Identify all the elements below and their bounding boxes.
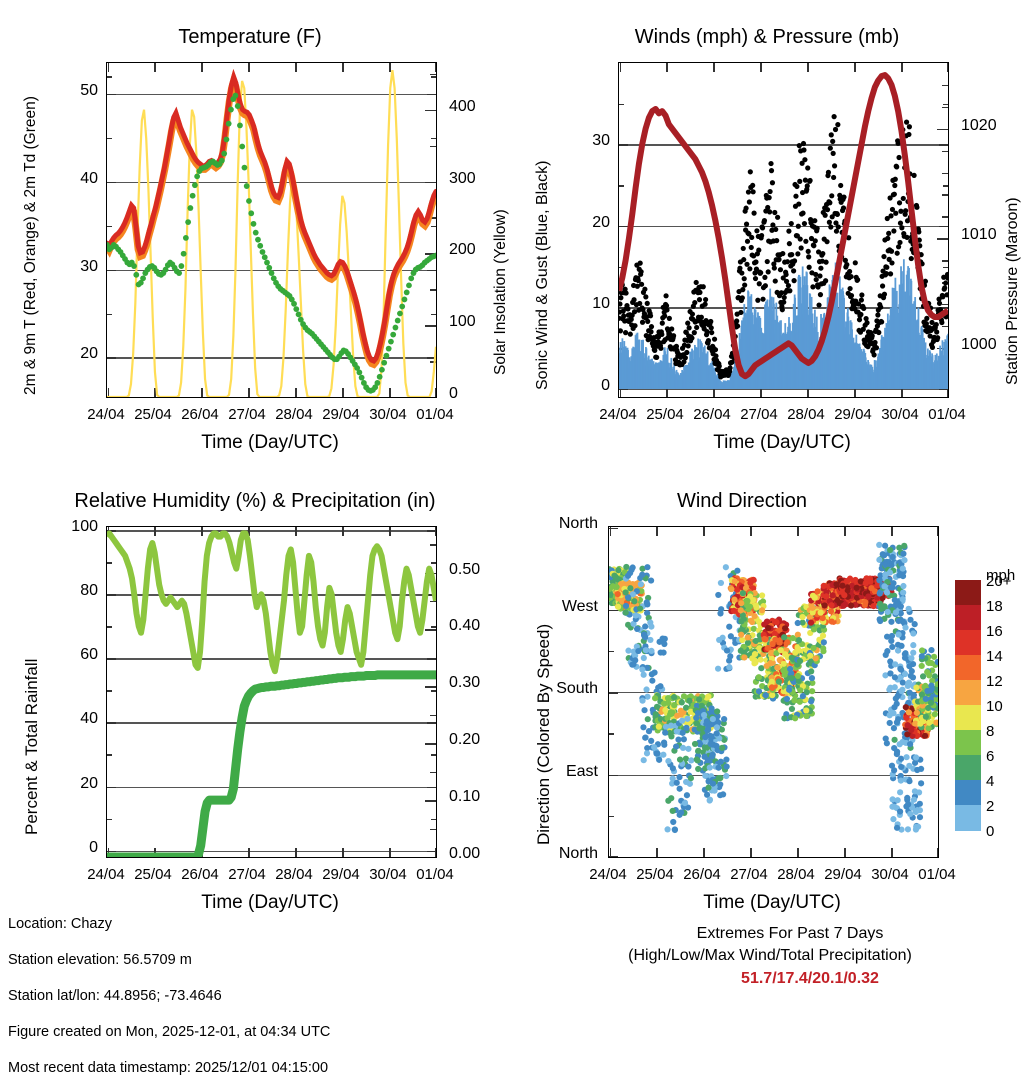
y-tick-label: 20 bbox=[50, 775, 98, 793]
colorbar-band bbox=[955, 705, 981, 731]
colorbar-band bbox=[955, 605, 981, 631]
yr-tick-label: 0.50 bbox=[449, 561, 480, 579]
y-tick-label: 100 bbox=[50, 518, 98, 536]
extremes-subheading: (High/Low/Max Wind/Total Precipitation) bbox=[560, 947, 980, 965]
humidity-ylabel-left: Percent & Total Rainfall bbox=[22, 659, 42, 835]
relative-humidity-line bbox=[107, 533, 436, 671]
y-tick-label: 10 bbox=[562, 295, 610, 313]
colorbar-band bbox=[955, 780, 981, 806]
colorbar-tick-label: 16 bbox=[986, 623, 1003, 640]
winds-pressure-series bbox=[619, 63, 948, 397]
colorbar-tick-label: 10 bbox=[986, 698, 1003, 715]
temperature-ylabel-left: 2m & 9m T (Red, Orange) & 2m Td (Green) bbox=[22, 96, 40, 395]
temperature-xlabel: Time (Day/UTC) bbox=[130, 432, 410, 454]
humidity-xlabel: Time (Day/UTC) bbox=[130, 892, 410, 914]
temperature-title: Temperature (F) bbox=[50, 26, 450, 49]
y-tick-label: South bbox=[532, 680, 598, 698]
temperature-series bbox=[107, 63, 436, 397]
y-tick-label: 40 bbox=[50, 710, 98, 728]
humidity-title: Relative Humidity (%) & Precipitation (i… bbox=[5, 490, 505, 513]
colorbar-tick-label: 6 bbox=[986, 748, 994, 765]
winds-xlabel: Time (Day/UTC) bbox=[642, 432, 922, 454]
y-tick-label: 30 bbox=[50, 258, 98, 276]
yr-tick-label: 100 bbox=[449, 313, 476, 331]
y-tick-label: 0 bbox=[562, 377, 610, 395]
colorbar-band bbox=[955, 755, 981, 781]
winds-pressure-title: Winds (mph) & Pressure (mb) bbox=[557, 26, 977, 49]
colorbar-tick-label: 14 bbox=[986, 648, 1003, 665]
yr-tick-label: 0.30 bbox=[449, 674, 480, 692]
wind-direction-plot bbox=[608, 526, 939, 858]
humidity-precip-panel: Relative Humidity (%) & Precipitation (i… bbox=[0, 460, 512, 920]
colorbar-band bbox=[955, 730, 981, 756]
wind-direction-xlabel: Time (Day/UTC) bbox=[632, 892, 912, 914]
footer-line: Station lat/lon: 44.8956; -73.4646 bbox=[8, 988, 330, 1004]
dewpoint-points bbox=[107, 93, 436, 394]
y-tick-label: 60 bbox=[50, 646, 98, 664]
y-tick-label: 0 bbox=[50, 839, 98, 857]
y-tick-label: 80 bbox=[50, 582, 98, 600]
yr-tick-label: 0.20 bbox=[449, 731, 480, 749]
colorbar-tick-label: 2 bbox=[986, 798, 994, 815]
yr-tick-label: 300 bbox=[449, 170, 476, 188]
winds-ylabel-left: Sonic Wind & Gust (Blue, Black) bbox=[534, 161, 552, 390]
y-tick-label: 40 bbox=[50, 170, 98, 188]
colorbar-tick-label: 4 bbox=[986, 773, 994, 790]
footer-line: Station elevation: 56.5709 m bbox=[8, 952, 330, 968]
temperature-panel: Temperature (F) 2m & 9m T (Red, Orange) … bbox=[0, 0, 512, 460]
footer-line: Most recent data timestamp: 2025/12/01 0… bbox=[8, 1060, 330, 1076]
temperature-ylabel-right: Solar Insolation (Yellow) bbox=[492, 209, 510, 375]
y-tick-label: North bbox=[532, 845, 598, 863]
winds-pressure-panel: Winds (mph) & Pressure (mb) Sonic Wind &… bbox=[512, 0, 1024, 460]
colorbar-tick-label: 0 bbox=[986, 823, 994, 840]
humidity-precip-series bbox=[107, 527, 436, 857]
extremes-heading: Extremes For Past 7 Days bbox=[600, 925, 980, 943]
x-tick-label: 01/04 bbox=[407, 866, 463, 883]
wind-direction-panel: Wind Direction Direction (Colored By Spe… bbox=[512, 460, 1024, 920]
winds-pressure-plot bbox=[618, 62, 949, 398]
yr-tick-label: 200 bbox=[449, 241, 476, 259]
y-tick-label: 50 bbox=[50, 82, 98, 100]
colorbar-band bbox=[955, 680, 981, 706]
x-tick-label: 01/04 bbox=[919, 406, 975, 423]
humidity-precip-plot bbox=[106, 526, 437, 858]
footer-info: Location: ChazyStation elevation: 56.570… bbox=[8, 916, 330, 996]
y-tick-label: 30 bbox=[562, 132, 610, 150]
yr-tick-mark bbox=[425, 857, 436, 858]
y-tick-label: North bbox=[532, 515, 598, 533]
x-tick-label: 01/04 bbox=[407, 406, 463, 423]
yr-tick-label: 0.10 bbox=[449, 788, 480, 806]
temperature-plot bbox=[106, 62, 437, 398]
yr-tick-label: 0 bbox=[449, 385, 458, 403]
colorbar-band bbox=[955, 630, 981, 656]
wind-speed-colorbar bbox=[955, 580, 981, 830]
wind-direction-points bbox=[609, 527, 938, 857]
y-tick-label: West bbox=[532, 598, 598, 616]
colorbar-tick-label: 18 bbox=[986, 598, 1003, 615]
x-tick-label: 01/04 bbox=[909, 866, 965, 883]
y-tick-label: East bbox=[532, 763, 598, 781]
yr-tick-label: 0.00 bbox=[449, 845, 480, 863]
wind-direction-title: Wind Direction bbox=[592, 490, 892, 513]
colorbar-band bbox=[955, 655, 981, 681]
footer-line: Location: Chazy bbox=[8, 916, 330, 932]
yr-tick-label: 1010 bbox=[961, 226, 997, 244]
colorbar-tick-label: 12 bbox=[986, 673, 1003, 690]
colorbar-band bbox=[955, 805, 981, 831]
yr-tick-label: 0.40 bbox=[449, 617, 480, 635]
colorbar-tick-label: 20+ bbox=[986, 573, 1011, 590]
yr-tick-label: 400 bbox=[449, 98, 476, 116]
yr-tick-mark bbox=[425, 397, 436, 398]
colorbar-band bbox=[955, 580, 981, 606]
yr-tick-label: 1000 bbox=[961, 336, 997, 354]
footer-line: Figure created on Mon, 2025-12-01, at 04… bbox=[8, 1024, 330, 1040]
wind-direction-ylabel: Direction (Colored By Speed) bbox=[534, 624, 554, 845]
extremes-values: 51.7/17.4/20.1/0.32 bbox=[640, 970, 980, 988]
colorbar-tick-label: 8 bbox=[986, 723, 994, 740]
yr-tick-label: 1020 bbox=[961, 117, 997, 135]
total-rainfall-line bbox=[107, 675, 436, 857]
pressure-ylabel-right: Station Pressure (Maroon) bbox=[1004, 197, 1022, 385]
y-tick-label: 20 bbox=[50, 345, 98, 363]
y-tick-label: 20 bbox=[562, 214, 610, 232]
